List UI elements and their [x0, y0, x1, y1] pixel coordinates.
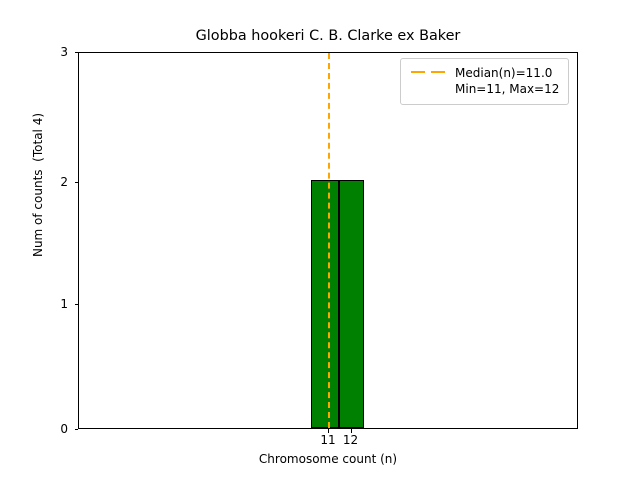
legend-median-line-icon — [410, 65, 446, 80]
xtick-mark-11 — [328, 429, 329, 433]
bar-12[interactable] — [339, 180, 364, 428]
ytick-mark-0 — [75, 429, 79, 430]
ytick-label-1: 1 — [28, 298, 68, 310]
page-title: Globba hookeri C. B. Clarke ex Baker — [78, 28, 578, 45]
xtick-mark-12 — [351, 429, 352, 433]
plot-area — [78, 52, 578, 429]
legend-label-minmax: Min=11, Max=12 — [455, 81, 559, 97]
xtick-label-12: 12 — [331, 434, 371, 447]
figure-canvas: Globba hookeri C. B. Clarke ex Baker 3 2… — [0, 0, 640, 480]
legend: Median(n)=11.0 Min=11, Max=12 — [400, 58, 569, 105]
legend-text-block: Median(n)=11.0 Min=11, Max=12 — [455, 65, 559, 97]
y-axis-label: Num of counts (Total 4) — [31, 85, 45, 285]
x-axis-label: Chromosome count (n) — [78, 452, 578, 466]
bar-11[interactable] — [311, 180, 339, 428]
ytick-label-0: 0 — [28, 423, 68, 435]
legend-label-median: Median(n)=11.0 — [455, 65, 559, 81]
ytick-label-3: 3 — [28, 46, 68, 58]
median-line — [328, 53, 330, 428]
bars-layer — [79, 53, 577, 428]
